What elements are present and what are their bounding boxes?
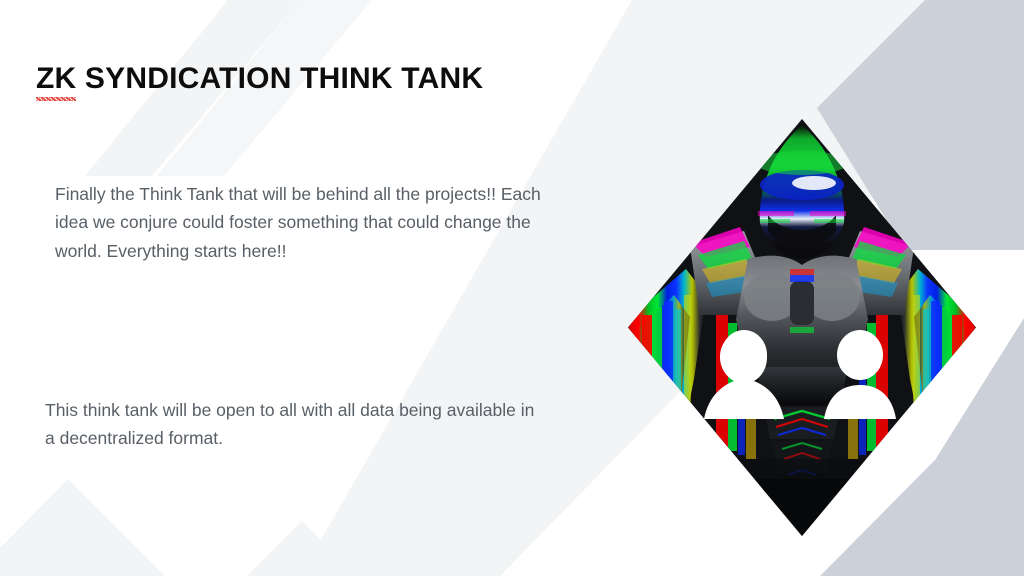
body-paragraph-1: Finally the Think Tank that will be behi… <box>55 180 565 266</box>
slide-content: ZK SYNDICATION THINK TANK Finally the Th… <box>0 0 1024 576</box>
body-paragraph-2: This think tank will be open to all with… <box>45 396 545 453</box>
slide: ZK SYNDICATION THINK TANK Finally the Th… <box>0 0 1024 576</box>
title-misspelled-word: ZK <box>36 62 76 96</box>
title-rest: SYNDICATION THINK TANK <box>76 62 483 95</box>
page-title: ZK SYNDICATION THINK TANK <box>36 62 483 96</box>
